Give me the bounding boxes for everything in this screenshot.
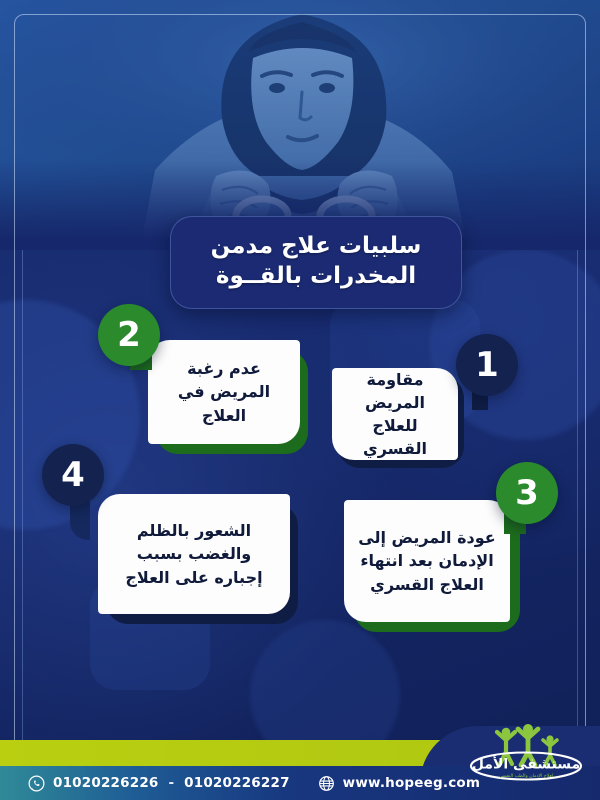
card-number-badge-2: 2 xyxy=(98,304,160,366)
reason-card-1[interactable]: مقاومة المريض للعلاج القسري 1 xyxy=(332,368,464,468)
title-line-1: سلبيات علاج مدمن xyxy=(185,231,447,261)
card-face: عودة المريض إلى الإدمان بعد انتهاء العلا… xyxy=(344,500,510,622)
card-face: مقاومة المريض للعلاج القسري xyxy=(332,368,458,460)
card-number-badge-1: 1 xyxy=(456,334,518,396)
card-text: الشعور بالظلم والغضب بسبب إجباره على الع… xyxy=(110,519,278,589)
card-number-badge-4: 4 xyxy=(42,444,104,506)
hospital-logo[interactable]: مستشفى الأمل لعلاج الإدمان والطب النفسي xyxy=(468,722,584,784)
hero-photo xyxy=(0,0,600,250)
whatsapp-icon[interactable] xyxy=(28,775,45,792)
card-text: عدم رغبة المريض في العلاج xyxy=(160,357,288,427)
infographic-poster: سلبيات علاج مدمن المخدرات بالقــوة مقاوم… xyxy=(0,0,600,800)
card-text: مقاومة المريض للعلاج القسري xyxy=(344,368,446,461)
card-text: عودة المريض إلى الإدمان بعد انتهاء العلا… xyxy=(356,526,498,596)
reason-card-2[interactable]: عدم رغبة المريض في العلاج 2 xyxy=(148,340,308,452)
card-number-label: 4 xyxy=(61,455,85,495)
logo-name: مستشفى الأمل xyxy=(472,756,580,773)
phone-separator: - xyxy=(169,775,175,791)
card-number-label: 2 xyxy=(117,315,141,355)
card-number-label: 1 xyxy=(475,345,499,385)
title-line-2: المخدرات بالقــوة xyxy=(185,261,447,291)
card-number-badge-3: 3 xyxy=(496,462,558,524)
phone-number-2[interactable]: 01020226227 xyxy=(184,775,290,791)
card-face: عدم رغبة المريض في العلاج xyxy=(148,340,300,444)
card-face: الشعور بالظلم والغضب بسبب إجباره على الع… xyxy=(98,494,290,614)
phone-number-1[interactable]: 01020226226 xyxy=(53,775,159,791)
globe-icon xyxy=(318,775,335,792)
reason-card-3[interactable]: عودة المريض إلى الإدمان بعد انتهاء العلا… xyxy=(344,500,520,632)
reason-card-4[interactable]: الشعور بالظلم والغضب بسبب إجباره على الع… xyxy=(98,494,298,624)
website-url[interactable]: www.hopeeg.com xyxy=(343,775,480,791)
logo-tagline: لعلاج الإدمان والطب النفسي xyxy=(499,774,553,779)
poster-title: سلبيات علاج مدمن المخدرات بالقــوة xyxy=(170,216,462,309)
card-number-label: 3 xyxy=(515,473,539,513)
